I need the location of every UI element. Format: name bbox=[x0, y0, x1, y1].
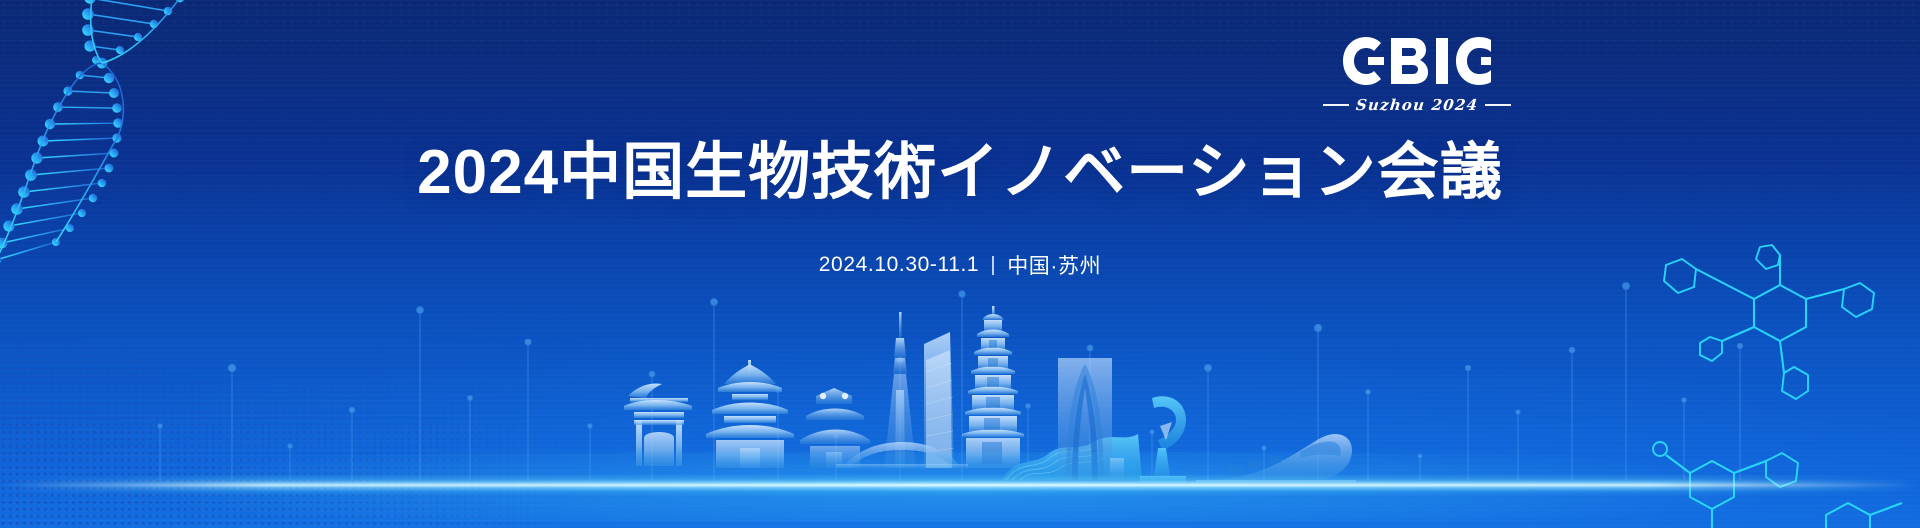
page-title: 2024中国生物技術イノベーション会議 bbox=[0, 140, 1920, 206]
suzhou-skyline-illustration bbox=[620, 300, 1060, 500]
vertical-pin-lines bbox=[0, 250, 1920, 480]
logo-script-text: Suzhou 2024 bbox=[1355, 96, 1479, 114]
cbic-wordmark-icon bbox=[1322, 36, 1512, 91]
event-meta: 2024.10.30-11.1 中国·苏州 bbox=[0, 250, 1920, 280]
event-banner: Suzhou 2024 2024中国生物技術イノベーション会議 2024.10.… bbox=[0, 0, 1920, 528]
cbic-logo[interactable]: Suzhou 2024 bbox=[1322, 36, 1512, 114]
logo-subtitle: Suzhou 2024 bbox=[1322, 96, 1512, 114]
logo-rule-right bbox=[1485, 104, 1511, 106]
event-dates: 2024.10.30-11.1 bbox=[819, 253, 979, 277]
light-beam bbox=[0, 474, 1920, 496]
light-beam-glow bbox=[0, 452, 1920, 522]
event-location: 中国·苏州 bbox=[1007, 250, 1101, 280]
dotted-mesh-wave bbox=[0, 270, 720, 528]
suzhou-skyline-east bbox=[1000, 330, 1360, 500]
meta-divider bbox=[992, 256, 994, 275]
logo-rule-left bbox=[1323, 104, 1349, 106]
